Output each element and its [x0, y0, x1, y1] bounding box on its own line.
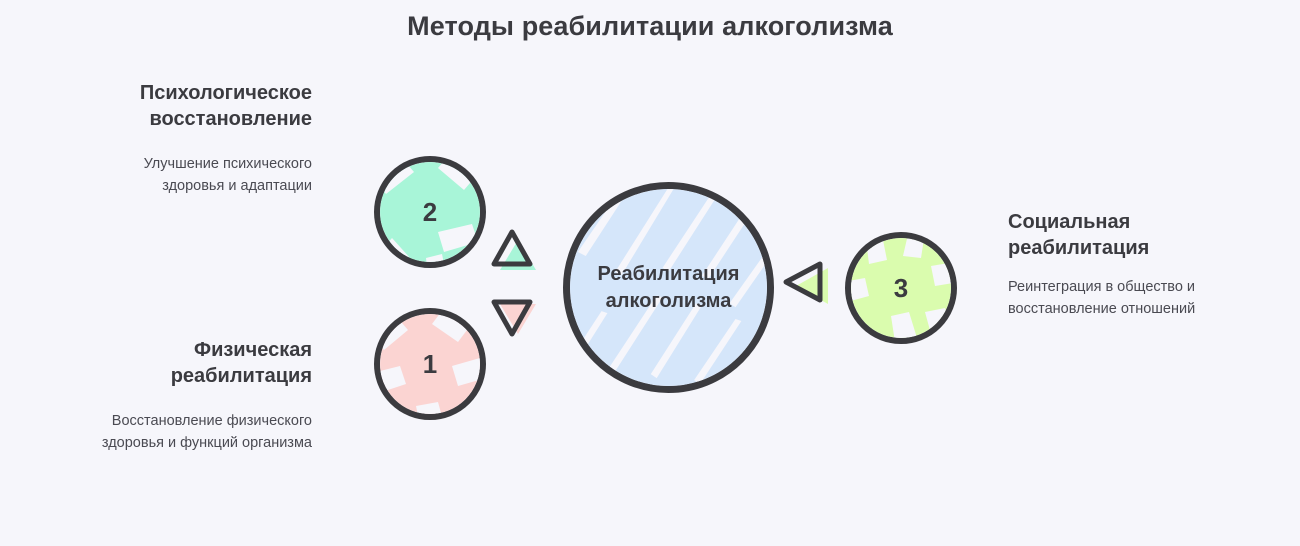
center-label-line-1: Реабилитация	[598, 263, 740, 285]
node-number-3: 3	[894, 273, 908, 304]
triangle-up-icon	[492, 228, 538, 278]
heading-line-1: Психологическое	[140, 82, 312, 104]
node-circle-3[interactable]: 3	[845, 232, 957, 344]
connector-triangle-up	[492, 228, 538, 278]
heading-line-2: реабилитация	[1008, 237, 1149, 259]
connector-triangle-down	[492, 300, 538, 350]
page-title: Методы реабилитации алкоголизма	[0, 10, 1300, 42]
center-node-circle[interactable]: Реабилитация алкоголизма	[563, 182, 774, 393]
triangle-down-icon	[492, 300, 538, 350]
heading-line-1: Физическая	[194, 339, 312, 361]
node-number-1: 1	[423, 349, 437, 380]
block-heading-psychological: Психологическое восстановление	[20, 80, 312, 133]
heading-line-1: Социальная	[1008, 211, 1130, 233]
block-description-psychological: Улучшение психического здоровья и адапта…	[20, 153, 312, 197]
center-node-label: Реабилитация алкоголизма	[586, 261, 752, 315]
label-block-physical: Физическая реабилитация Восстановление ф…	[20, 337, 312, 454]
triangle-left-icon	[782, 258, 836, 310]
connector-triangle-left	[782, 258, 836, 310]
label-block-social: Социальная реабилитация Реинтеграция в о…	[1008, 209, 1278, 320]
node-number-2: 2	[423, 197, 437, 228]
center-label-line-2: алкоголизма	[606, 290, 732, 312]
block-description-social: Реинтеграция в общество и восстановление…	[1008, 276, 1278, 320]
block-heading-physical: Физическая реабилитация	[20, 337, 312, 390]
heading-line-2: восстановление	[149, 108, 312, 130]
block-description-physical: Восстановление физического здоровья и фу…	[20, 410, 312, 454]
infographic-canvas: Методы реабилитации алкоголизма Психолог…	[0, 0, 1300, 546]
heading-line-2: реабилитация	[171, 365, 312, 387]
label-block-psychological: Психологическое восстановление Улучшение…	[20, 80, 312, 197]
block-heading-social: Социальная реабилитация	[1008, 209, 1278, 262]
node-circle-1[interactable]: 1	[374, 308, 486, 420]
node-circle-2[interactable]: 2	[374, 156, 486, 268]
